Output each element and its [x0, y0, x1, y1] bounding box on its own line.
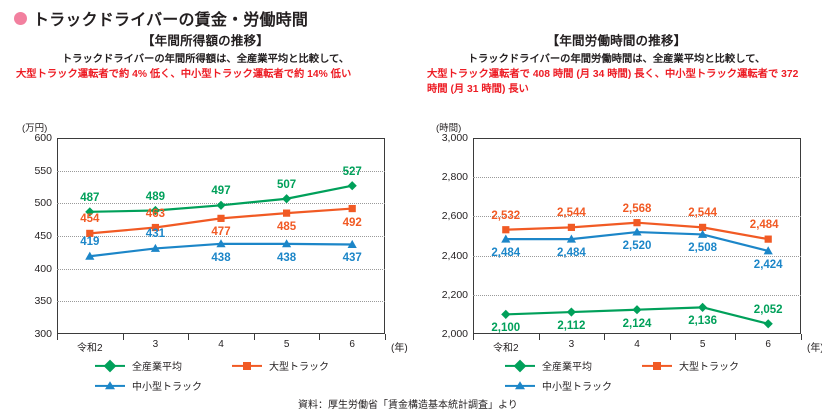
data-point-label: 489 — [146, 191, 165, 203]
series-marker — [765, 236, 772, 243]
series-marker — [632, 305, 641, 314]
legend-label: 全産業平均 — [132, 358, 182, 373]
data-point-label: 477 — [211, 226, 230, 238]
x-axis-tick-label: 5 — [284, 339, 290, 350]
data-point-label: 2,532 — [491, 210, 520, 222]
x-axis-tick-label: 3 — [153, 339, 159, 350]
y-axis-tick-label: 2,600 — [442, 210, 468, 222]
legend-label: 大型トラック — [269, 358, 329, 373]
panel-hours-subtitle-black: トラックドライバーの年間労働時間は、全産業平均と比較して、 — [427, 53, 806, 68]
x-axis-tick-label: 令和2 — [77, 339, 103, 354]
source-note: 資料：厚生労働省「賃金構造基本統計調査」より — [298, 396, 518, 411]
data-point-label: 527 — [343, 166, 362, 178]
panel-income-subtitle: トラックドライバーの年間所得額は、全産業平均と比較して、 大型トラック運転者で約… — [16, 53, 395, 83]
x-axis-tick-mark — [319, 334, 320, 340]
x-axis-tick-mark — [254, 334, 255, 340]
data-point-label: 454 — [80, 213, 99, 225]
y-axis-tick-label: 300 — [34, 328, 52, 340]
y-axis-tick-label: 2,800 — [442, 171, 468, 183]
x-axis-tick-label: 5 — [700, 339, 706, 350]
bullet-icon — [14, 12, 27, 25]
series-marker — [698, 303, 707, 312]
series-marker — [349, 205, 356, 212]
x-axis-tick-mark — [385, 334, 386, 340]
y-axis-tick-label: 600 — [34, 132, 52, 144]
legend-row: 中小型トラック — [95, 378, 329, 393]
page-title: トラックドライバーの賃金・労働時間 — [14, 6, 308, 30]
x-axis-tick-label: 6 — [765, 339, 771, 350]
series-layer — [473, 138, 801, 334]
x-axis-tick-mark — [539, 334, 540, 340]
figure-root: トラックドライバーの賃金・労働時間 【年間所得額の推移】 トラックドライバーの年… — [0, 0, 822, 417]
legend-item[interactable]: 中小型トラック — [95, 378, 202, 393]
data-point-label: 2,568 — [623, 203, 652, 215]
y-axis-tick-label: 2,000 — [442, 328, 468, 340]
chart-hours: 2,0002,2002,4002,6002,8003,000令和23456(年)… — [473, 138, 801, 334]
series-marker — [217, 215, 224, 222]
data-point-label: 2,484 — [557, 247, 586, 259]
legend-hours: 全産業平均大型トラック中小型トラック — [505, 358, 739, 398]
series-marker — [282, 194, 291, 203]
series-marker — [283, 210, 290, 217]
series-marker — [633, 219, 640, 226]
data-point-label: 2,520 — [623, 240, 652, 252]
x-axis-unit: (年) — [391, 339, 408, 354]
x-axis-tick-mark — [735, 334, 736, 340]
series-marker — [567, 307, 576, 316]
legend-label: 中小型トラック — [542, 378, 612, 393]
legend-item[interactable]: 中小型トラック — [505, 378, 612, 393]
data-point-label: 2,484 — [491, 247, 520, 259]
x-axis-tick-mark — [123, 334, 124, 340]
y-axis-tick-label: 550 — [34, 165, 52, 177]
x-axis-tick-mark — [604, 334, 605, 340]
panel-income-title: 【年間所得額の推移】 — [0, 28, 411, 49]
x-axis-tick-label: 6 — [349, 339, 355, 350]
legend-marker-icon — [505, 360, 535, 372]
legend-label: 中小型トラック — [132, 378, 202, 393]
data-point-label: 463 — [146, 208, 165, 220]
data-point-label: 2,484 — [750, 219, 779, 231]
x-axis-tick-mark — [57, 334, 58, 340]
legend-marker-icon — [95, 360, 125, 372]
panel-income-subtitle-red: 大型トラック運転者で約 4% 低く、中小型トラック運転者で約 14% 低い — [16, 68, 395, 83]
x-axis-tick-label: 4 — [634, 339, 640, 350]
legend-label: 全産業平均 — [542, 358, 592, 373]
data-point-label: 438 — [211, 252, 230, 264]
legend-marker-icon — [232, 360, 262, 372]
series-marker — [502, 226, 509, 233]
legend-marker-icon — [95, 380, 125, 392]
panel-hours-subtitle: トラックドライバーの年間労働時間は、全産業平均と比較して、 大型トラック運転者で… — [427, 53, 806, 98]
y-axis-tick-label: 450 — [34, 230, 52, 242]
legend-item[interactable]: 全産業平均 — [95, 358, 182, 373]
legend-row: 中小型トラック — [505, 378, 739, 393]
data-point-label: 437 — [343, 252, 362, 264]
legend-row: 全産業平均大型トラック — [505, 358, 739, 373]
legend-marker-icon — [642, 360, 672, 372]
data-point-label: 2,052 — [754, 304, 783, 316]
y-axis-tick-label: 3,000 — [442, 132, 468, 144]
panel-hours-title: 【年間労働時間の推移】 — [411, 28, 822, 49]
legend-label: 大型トラック — [679, 358, 739, 373]
legend-item[interactable]: 全産業平均 — [505, 358, 592, 373]
data-point-label: 2,112 — [557, 320, 585, 332]
legend-item[interactable]: 大型トラック — [232, 358, 329, 373]
x-axis-tick-mark — [670, 334, 671, 340]
y-axis-tick-label: 400 — [34, 263, 52, 275]
data-point-label: 438 — [277, 252, 296, 264]
data-point-label: 497 — [211, 185, 230, 197]
panel-income-subtitle-black: トラックドライバーの年間所得額は、全産業平均と比較して、 — [16, 53, 395, 68]
x-axis-tick-label: 令和2 — [493, 339, 519, 354]
series-marker — [348, 181, 357, 190]
x-axis-tick-label: 4 — [218, 339, 224, 350]
data-point-label: 2,424 — [754, 259, 783, 271]
y-axis-tick-label: 500 — [34, 197, 52, 209]
data-point-label: 487 — [80, 192, 99, 204]
data-point-label: 507 — [277, 179, 296, 191]
data-point-label: 431 — [146, 228, 165, 240]
series-marker — [568, 224, 575, 231]
chart-income: 300350400450500550600令和23456(年)487489497… — [57, 138, 385, 334]
data-point-label: 2,508 — [688, 242, 717, 254]
data-point-label: 2,544 — [557, 207, 586, 219]
y-axis-tick-label: 2,400 — [442, 250, 468, 262]
x-axis-tick-mark — [188, 334, 189, 340]
legend-income: 全産業平均大型トラック中小型トラック — [95, 358, 329, 398]
y-axis-tick-label: 2,200 — [442, 289, 468, 301]
series-marker — [501, 310, 510, 319]
panel-hours-subtitle-red: 大型トラック運転者で 408 時間 (月 34 時間) 長く、中小型トラック運転… — [427, 68, 806, 98]
data-point-label: 2,100 — [491, 322, 520, 334]
data-point-label: 419 — [80, 236, 99, 248]
data-point-label: 2,136 — [688, 315, 717, 327]
legend-row: 全産業平均大型トラック — [95, 358, 329, 373]
x-axis-tick-mark — [473, 334, 474, 340]
series-marker — [764, 319, 773, 328]
x-axis-tick-label: 3 — [569, 339, 575, 350]
data-point-label: 2,124 — [623, 318, 652, 330]
x-axis-tick-mark — [801, 334, 802, 340]
data-point-label: 485 — [277, 221, 296, 233]
data-point-label: 492 — [343, 217, 362, 229]
legend-marker-icon — [505, 380, 535, 392]
series-marker — [216, 201, 225, 210]
y-axis-tick-label: 350 — [34, 295, 52, 307]
data-point-label: 2,544 — [688, 207, 717, 219]
x-axis-unit: (年) — [807, 339, 822, 354]
page-title-text: トラックドライバーの賃金・労働時間 — [33, 6, 308, 30]
legend-item[interactable]: 大型トラック — [642, 358, 739, 373]
